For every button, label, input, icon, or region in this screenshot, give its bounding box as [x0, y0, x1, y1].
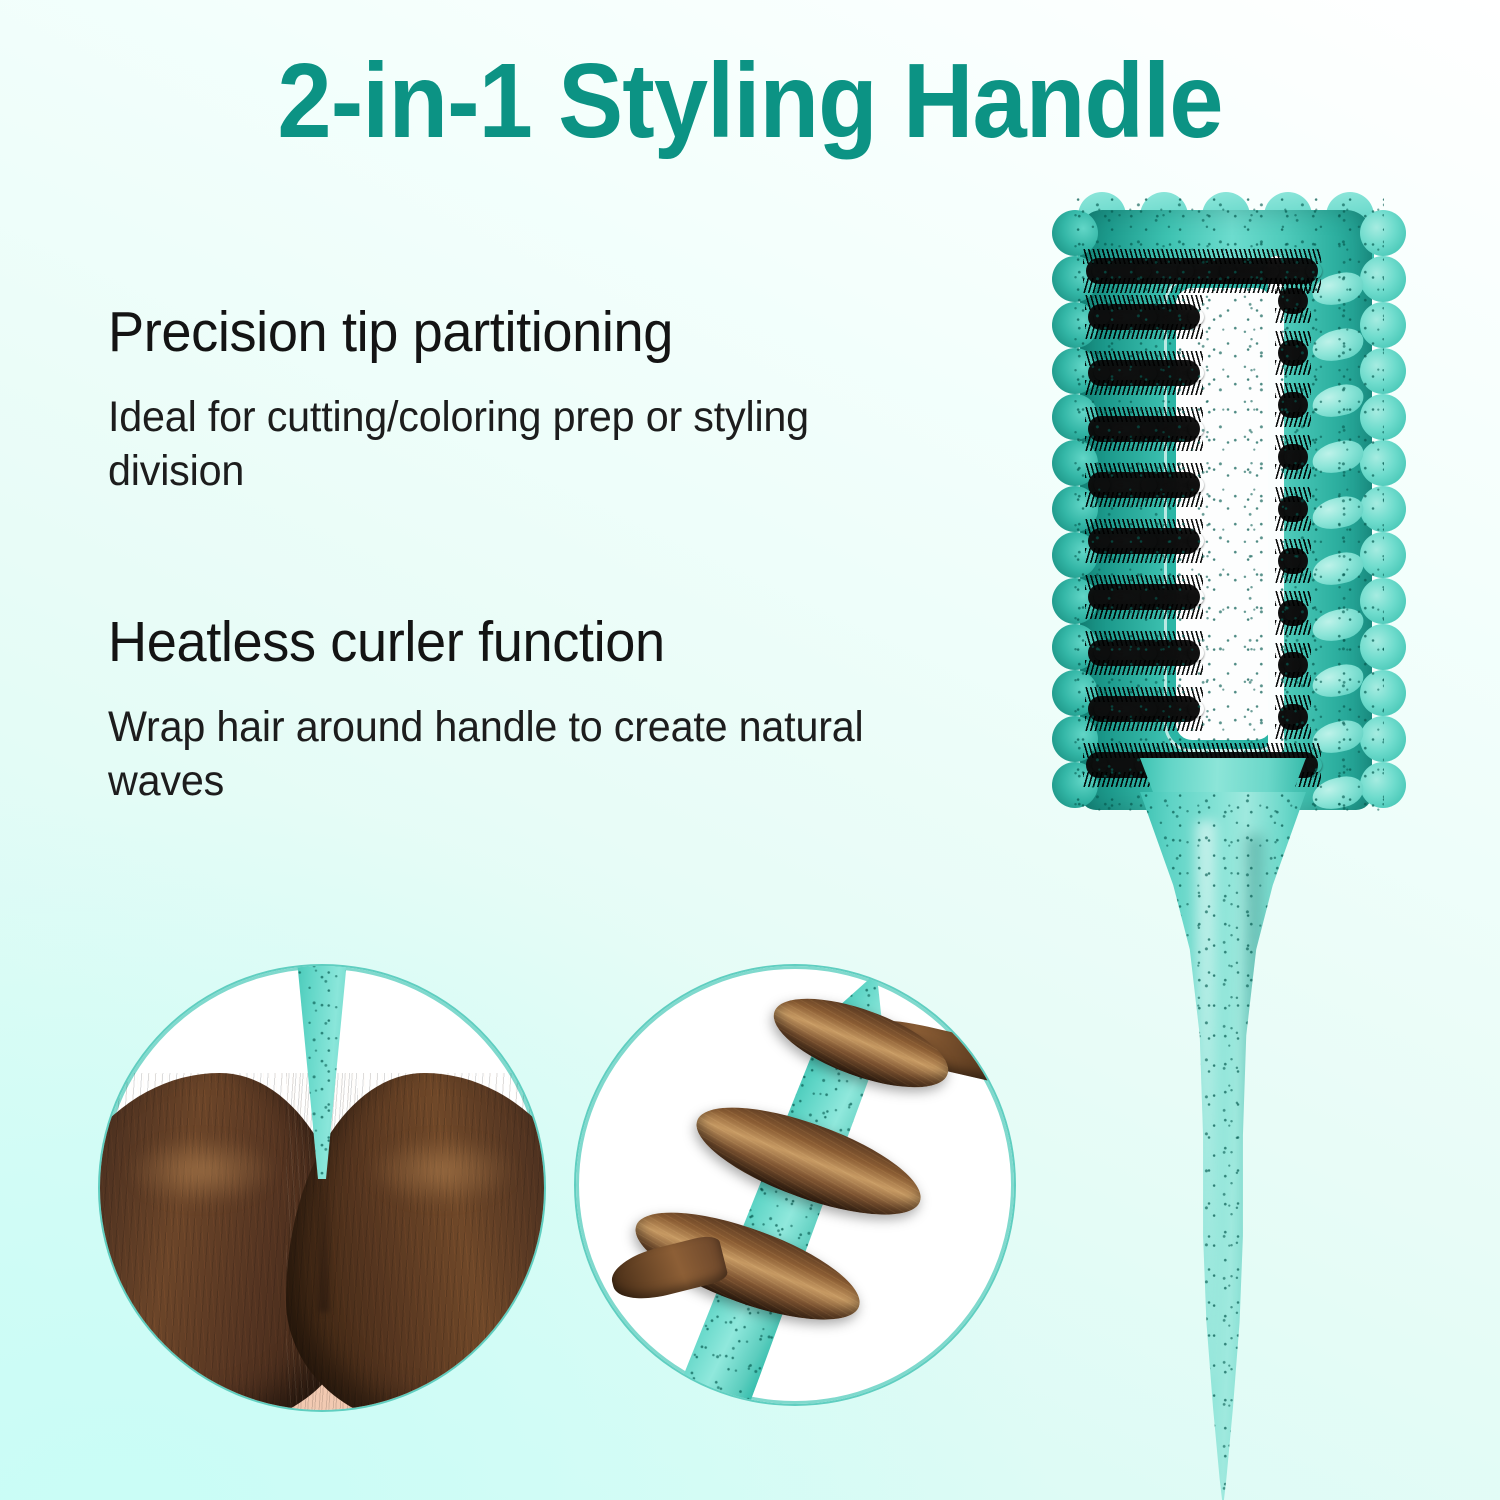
brush-scallop: [1360, 394, 1406, 440]
bristle-ball-tip: [1306, 263, 1322, 279]
bristle-row: [1088, 696, 1200, 722]
parting-demo-scene: [100, 966, 544, 1410]
bristle-ball-tip: [1284, 657, 1300, 673]
bristle-ball-tip: [1306, 757, 1322, 773]
curler-demo-scene: [576, 966, 1014, 1404]
brush-scallop: [1360, 256, 1406, 302]
feature-block-precision-tip: Precision tip partitioning Ideal for cut…: [108, 302, 918, 499]
bristle-ball-tip: [1135, 263, 1151, 279]
bristle-ball-tip: [1141, 533, 1157, 549]
bristle-ball-tip: [1188, 309, 1204, 325]
photo-parting-demo: Pointed handle tip creating a parting in…: [100, 966, 544, 1410]
bristle-row: [1278, 548, 1308, 574]
bristle-row: [1088, 640, 1200, 666]
bristle-row: [1278, 652, 1308, 678]
bristle-row: [1278, 600, 1308, 626]
bristle-ball-tip: [1188, 477, 1204, 493]
brush-handle: [1140, 792, 1306, 1500]
handle-body: [1140, 792, 1306, 1500]
brush-scallop: [1360, 624, 1406, 670]
bristle-ball-tip: [1094, 477, 1110, 493]
brush-head-right-scallops: [1360, 210, 1406, 810]
bristle-ball-tip: [1094, 701, 1110, 717]
brush-scallop: [1360, 762, 1406, 808]
brush-head: [1072, 196, 1384, 820]
feature-heading: Precision tip partitioning: [108, 302, 878, 364]
bristle-ball-tip: [1263, 263, 1279, 279]
bristle-ball-tip: [1141, 477, 1157, 493]
bristle-ball-tip: [1284, 553, 1300, 569]
bristle-ball-tip: [1284, 345, 1300, 361]
bristle-ball-tip: [1284, 293, 1300, 309]
handle-shadow: [1246, 835, 1263, 1408]
feature-block-heatless-curler: Heatless curler function Wrap hair aroun…: [108, 612, 918, 809]
bristle-ball-tip: [1220, 263, 1236, 279]
brush-scallop: [1360, 532, 1406, 578]
bristle-row: [1278, 288, 1308, 314]
bristle-ball-tip: [1092, 263, 1108, 279]
bristle-ball-tip: [1094, 645, 1110, 661]
feature-heading: Heatless curler function: [108, 612, 878, 674]
bristle-row: [1088, 472, 1200, 498]
bristle-ball-tip: [1188, 645, 1204, 661]
bristle-ball-tip: [1141, 701, 1157, 717]
speckle-texture: [1140, 792, 1306, 1500]
bristle-row: [1088, 584, 1200, 610]
bristle-ball-tip: [1094, 365, 1110, 381]
brush-scallop: [1360, 302, 1406, 348]
brush-scallop: [1360, 716, 1406, 762]
bristle-ball-tip: [1141, 309, 1157, 325]
brush-scallop: [1360, 440, 1406, 486]
bristle-ball-tip: [1141, 589, 1157, 605]
hair-highlight: [366, 1135, 517, 1206]
bristle-ball-tip: [1188, 533, 1204, 549]
bristle-ball-tip: [1141, 645, 1157, 661]
bristle-ball-tip: [1188, 421, 1204, 437]
bristle-ball-tip: [1092, 757, 1108, 773]
bristle-ball-tip: [1284, 397, 1300, 413]
brush-scallop: [1360, 348, 1406, 394]
bristle-ball-tip: [1284, 709, 1300, 725]
hair-highlight: [127, 1135, 278, 1206]
bristle-ball-tip: [1094, 589, 1110, 605]
bristle-ball-tip: [1284, 605, 1300, 621]
bristle-row: [1088, 360, 1200, 386]
bristle-row: [1088, 528, 1200, 554]
brush-scallop: [1360, 578, 1406, 624]
brush-scallop: [1360, 486, 1406, 532]
feature-body: Ideal for cutting/coloring prep or styli…: [108, 390, 866, 499]
bristle-row: [1278, 444, 1308, 470]
bristle-row: [1278, 340, 1308, 366]
bristle-ball-tip: [1188, 701, 1204, 717]
handle-gloss-highlight: [1196, 821, 1216, 1379]
bristle-ball-tip: [1188, 365, 1204, 381]
bristle-ball-tip: [1141, 421, 1157, 437]
bristle-row: [1278, 392, 1308, 418]
brush-scallop: [1360, 670, 1406, 716]
bristle-ball-tip: [1284, 501, 1300, 517]
brush-scallop: [1360, 210, 1406, 256]
feature-body: Wrap hair around handle to create natura…: [108, 700, 866, 809]
bristle-ball-tip: [1188, 589, 1204, 605]
bristle-ball-tip: [1094, 421, 1110, 437]
product-image-styling-brush: Teal speckled vented styling brush with …: [1048, 196, 1440, 1500]
bristle-row: [1278, 496, 1308, 522]
bristle-ball-tip: [1284, 449, 1300, 465]
hair-parting-line: [318, 1161, 330, 1312]
bristle-row: [1088, 416, 1200, 442]
bristle-row: [1278, 704, 1308, 730]
bristle-ball-tip: [1094, 533, 1110, 549]
hair-tail-bottom: [607, 1233, 729, 1307]
bristle-ball-tip: [1141, 365, 1157, 381]
bristle-ball-tip: [1094, 309, 1110, 325]
bristle-ball-tip: [1178, 263, 1194, 279]
page-title: 2-in-1 Styling Handle: [60, 44, 1440, 158]
bristle-row: [1088, 304, 1200, 330]
infographic-page: 2-in-1 Styling Handle Precision tip part…: [0, 0, 1500, 1500]
photo-curler-demo: Brown hair wrapped in coils around the t…: [576, 966, 1014, 1404]
